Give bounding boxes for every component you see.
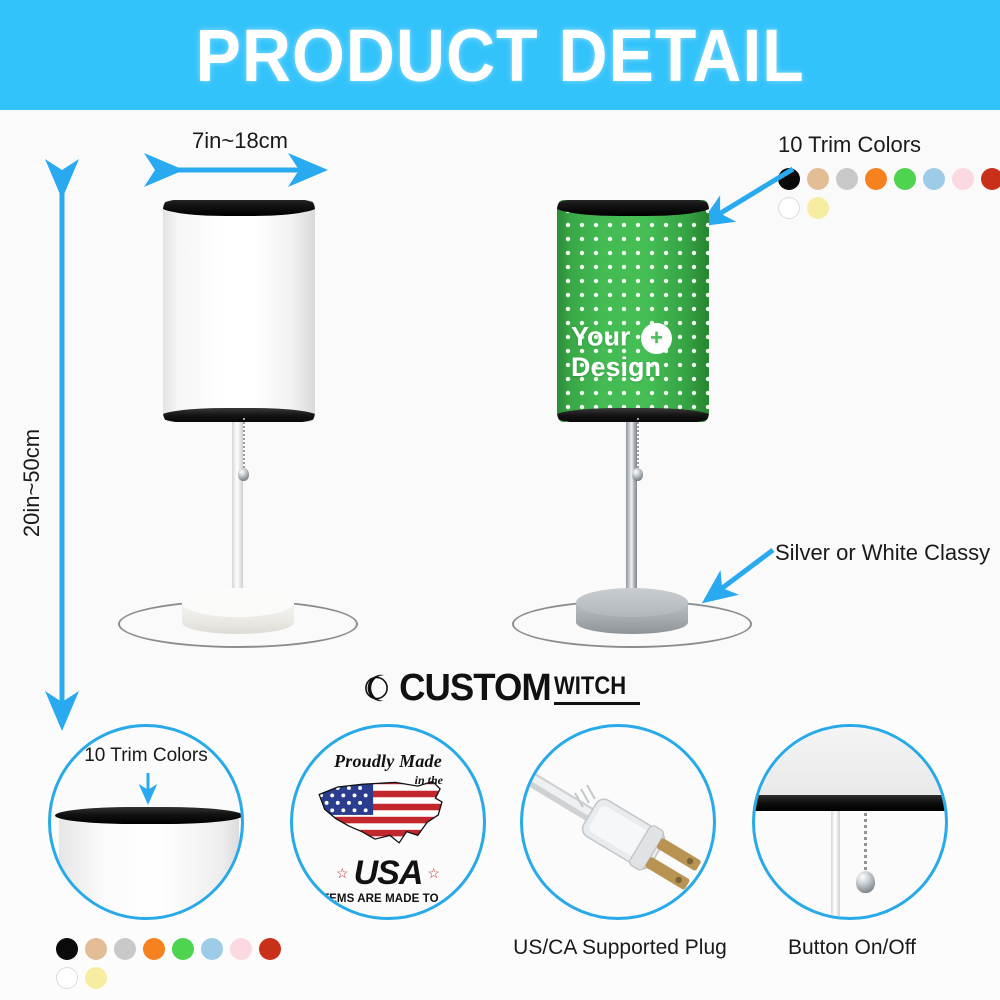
swatch-orange[interactable] bbox=[143, 938, 165, 960]
pull-chain[interactable] bbox=[243, 418, 245, 470]
swatch-red[interactable] bbox=[259, 938, 281, 960]
usa-badge-sub-text: ALL ITEMS ARE MADE TO ORDER! bbox=[293, 893, 483, 917]
base-finish-label: Silver or White Classy bbox=[775, 540, 990, 566]
swatch-tan[interactable] bbox=[85, 938, 107, 960]
lamp-base bbox=[576, 588, 688, 640]
swatch-pink[interactable] bbox=[952, 168, 974, 190]
plug-caption: US/CA Supported Plug bbox=[513, 936, 727, 960]
brand-name-secondary-wrap: WITCH bbox=[554, 672, 640, 705]
swatch-orange[interactable] bbox=[865, 168, 887, 190]
usa-badge-top-text: Proudly Made bbox=[334, 751, 442, 772]
bottom-swatch-row bbox=[56, 938, 308, 989]
feature-plug: US/CA Supported Plug bbox=[520, 724, 720, 920]
trim-ring-closeup bbox=[55, 807, 243, 824]
brand-underline bbox=[554, 702, 640, 705]
lamp-base bbox=[182, 588, 294, 640]
swatch-black[interactable] bbox=[56, 938, 78, 960]
lamp-pole-closeup bbox=[831, 811, 840, 920]
pull-chain-closeup[interactable] bbox=[864, 813, 867, 875]
header-banner: PRODUCT DETAIL bbox=[0, 0, 1000, 110]
polka-dot-pattern bbox=[557, 200, 709, 422]
pull-chain[interactable] bbox=[637, 418, 639, 470]
feature-trim-colors: 10 Trim Colors bbox=[48, 724, 248, 920]
lamp-right: Your + Design bbox=[420, 110, 840, 720]
pull-chain-ball[interactable] bbox=[632, 468, 643, 481]
swatch-light-blue[interactable] bbox=[923, 168, 945, 190]
design-line-1: Your bbox=[571, 322, 631, 352]
usa-flag-map-icon bbox=[308, 774, 468, 854]
design-line-2: Design bbox=[571, 352, 661, 382]
feature-circle bbox=[752, 724, 948, 920]
shade-bottom-closeup bbox=[755, 727, 948, 799]
pull-chain-ball[interactable] bbox=[238, 468, 249, 481]
button-caption: Button On/Off bbox=[788, 936, 916, 960]
trim-ring-top bbox=[557, 200, 709, 216]
swatch-red[interactable] bbox=[981, 168, 1000, 190]
brand-name-primary: CUSTOM bbox=[399, 667, 551, 710]
brand-name-secondary: WITCH bbox=[554, 672, 630, 701]
usa-badge-inthe-text: in the bbox=[415, 773, 443, 788]
base-finish-arrow-icon bbox=[695, 542, 781, 612]
usa-word: USA bbox=[354, 854, 423, 893]
lamp-shade: Your + Design bbox=[557, 200, 709, 422]
usa-word-row: ☆ USA ☆ bbox=[336, 854, 440, 893]
product-detail-infographic: PRODUCT DETAIL 10 Trim Colors bbox=[0, 0, 1000, 1000]
base-top bbox=[576, 588, 688, 617]
swatch-white[interactable] bbox=[56, 967, 78, 989]
lamp-left: 7in~18cm 20in~50cm bbox=[0, 110, 420, 720]
swatch-green[interactable] bbox=[172, 938, 194, 960]
feature-circle: Proudly Made in the bbox=[290, 724, 486, 920]
pull-chain-ball-closeup[interactable] bbox=[856, 871, 875, 893]
shade-closeup-surface bbox=[59, 815, 239, 920]
feature-circle bbox=[520, 724, 716, 920]
trim-ring-bottom bbox=[163, 408, 315, 422]
trim-colors-down-arrow-icon bbox=[139, 771, 157, 807]
brand-monogram-icon bbox=[360, 671, 394, 705]
swatch-gray[interactable] bbox=[114, 938, 136, 960]
trim-ring-top bbox=[163, 200, 315, 216]
lamp-shade bbox=[163, 200, 315, 422]
height-dimension-arrow-icon bbox=[52, 175, 72, 735]
width-dimension-label: 7in~18cm bbox=[192, 128, 288, 154]
shade-surface bbox=[163, 200, 315, 422]
feature-circle: 10 Trim Colors bbox=[48, 724, 244, 920]
swatch-light-blue[interactable] bbox=[201, 938, 223, 960]
your-design-text: Your + Design bbox=[571, 323, 672, 382]
power-plug-icon bbox=[523, 727, 716, 920]
star-right-icon: ☆ bbox=[427, 865, 440, 882]
swatch-green[interactable] bbox=[894, 168, 916, 190]
trim-ring-closeup bbox=[752, 795, 948, 811]
lamp-pole bbox=[626, 410, 637, 610]
feature-made-in-usa: Proudly Made in the bbox=[290, 724, 490, 920]
main-stage: 10 Trim Colors 7in~18cm bbox=[0, 110, 1000, 720]
page-title: PRODUCT DETAIL bbox=[195, 13, 804, 98]
star-left-icon: ☆ bbox=[336, 865, 349, 882]
brand-logo: CUSTOM WITCH bbox=[0, 660, 1000, 716]
width-dimension-arrow-icon bbox=[162, 160, 330, 180]
height-dimension-label: 20in~50cm bbox=[19, 429, 45, 537]
add-design-badge[interactable]: + bbox=[641, 323, 672, 354]
swatch-pink[interactable] bbox=[230, 938, 252, 960]
feature-button: Button On/Off bbox=[752, 724, 952, 920]
usa-badge: Proudly Made in the bbox=[293, 727, 483, 917]
base-top bbox=[182, 588, 294, 617]
swatch-yellow[interactable] bbox=[85, 967, 107, 989]
trim-ring-bottom bbox=[557, 408, 709, 422]
trim-colors-inner-label: 10 Trim Colors bbox=[84, 745, 208, 767]
feature-row: 10 Trim Colors bbox=[0, 716, 1000, 1000]
lamp-pole bbox=[232, 410, 243, 610]
